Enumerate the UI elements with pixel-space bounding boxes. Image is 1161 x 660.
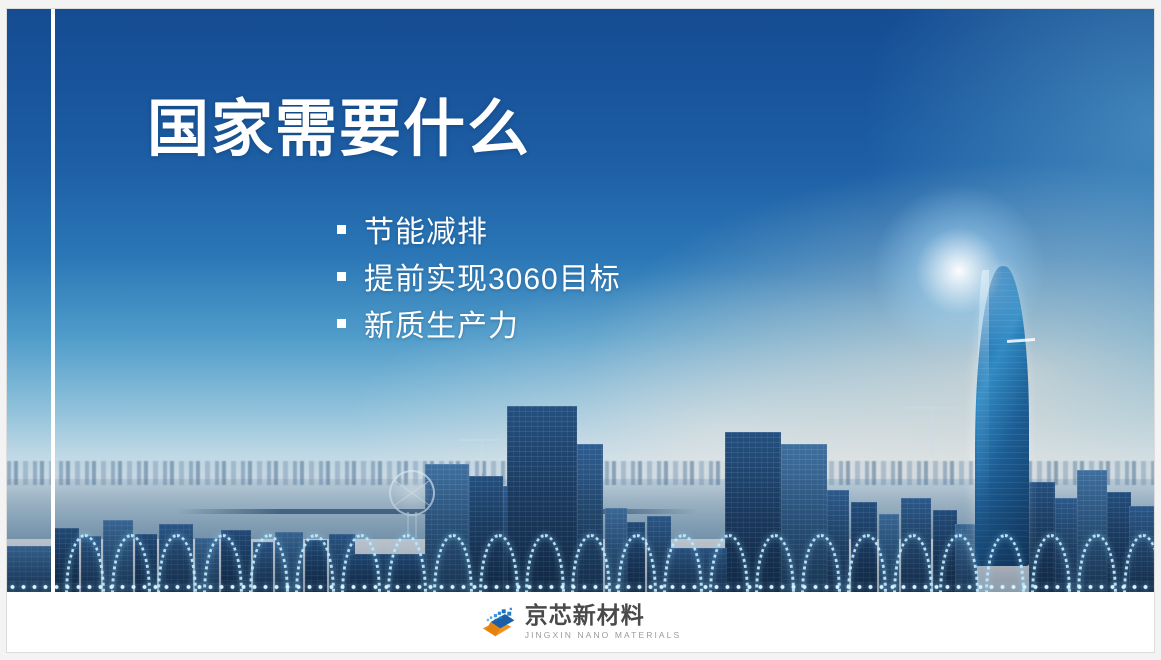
square-bullet-icon xyxy=(337,225,346,234)
list-item-label: 提前实现3060目标 xyxy=(364,254,621,298)
list-item: 节能减排 xyxy=(337,205,621,252)
construction-crane-mast-2 xyxy=(481,439,483,473)
jingxin-pixel-logo-icon xyxy=(478,603,516,641)
square-bullet-icon xyxy=(337,319,346,328)
list-item: 提前实现3060目标 xyxy=(337,252,621,299)
foreground-haze xyxy=(7,474,1155,594)
brand-name-en: JINGXIN NANO MATERIALS xyxy=(525,630,682,640)
presentation-slide: 国家需要什么 节能减排 提前实现3060目标 新质生产力 xyxy=(6,8,1155,653)
list-item-label: 节能减排 xyxy=(364,207,488,251)
brand-name-cn: 京芯新材料 xyxy=(525,604,682,628)
left-accent-divider xyxy=(51,9,55,594)
construction-crane-jib xyxy=(903,407,959,409)
bullet-list: 节能减排 提前实现3060目标 新质生产力 xyxy=(337,205,621,346)
list-item-label: 新质生产力 xyxy=(364,301,519,345)
square-bullet-icon xyxy=(337,272,346,281)
construction-crane-mast xyxy=(931,407,933,453)
slide-footer: 京芯新材料 JINGXIN NANO MATERIALS xyxy=(7,592,1155,652)
page-title: 国家需要什么 xyxy=(147,93,531,166)
construction-crane-jib-2 xyxy=(459,439,501,441)
brand-wordmark: 京芯新材料 JINGXIN NANO MATERIALS xyxy=(525,604,682,640)
brand-logo: 京芯新材料 JINGXIN NANO MATERIALS xyxy=(478,603,682,641)
list-item: 新质生产力 xyxy=(337,299,621,346)
